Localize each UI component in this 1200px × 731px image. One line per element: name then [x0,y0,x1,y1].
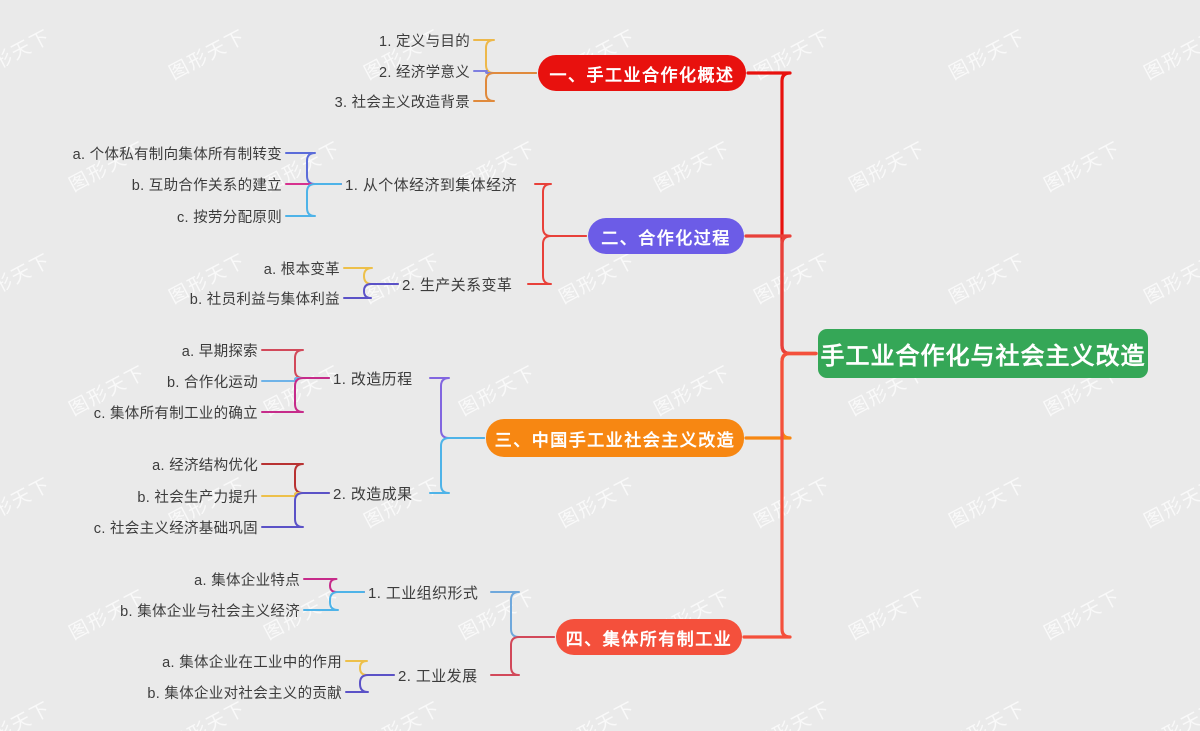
leaf-node-b2s1-2[interactable]: c. 按劳分配原则 [159,205,282,227]
leaf-node-b2s1-0[interactable]: a. 个体私有制向集体所有制转变 [50,142,282,164]
leaf-connector-b2s2-1 [344,284,398,298]
leaf-connector-b3s2-1 [262,493,329,496]
leaf-connector-b2s1-2 [286,184,341,216]
leaf-node-b4s1-0[interactable]: a. 集体企业特点 [183,568,300,590]
leaf-connector-b2s2-0 [344,268,398,284]
leaf-connector-b2s1-0 [286,153,341,184]
sub-node-b4s1[interactable]: 1. 工业组织形式 [368,580,487,604]
sub-connector-b3s1 [430,378,484,438]
trunk-connector-b4 [744,354,816,638]
leaf-node-b4s1-1[interactable]: b. 集体企业与社会主义经济 [94,599,300,621]
sub-node-b2s2[interactable]: 2. 生产关系变革 [402,272,524,296]
watermark-text: 图形天下 [554,246,641,309]
watermark-text: 图形天下 [454,358,541,421]
leaf-node-b1-1[interactable]: 2. 经济学意义 [362,60,470,82]
mindmap-canvas: 图形天下图形天下图形天下图形天下图形天下图形天下图形天下图形天下图形天下图形天下… [0,0,1200,731]
watermark-text: 图形天下 [1139,694,1200,731]
watermark-text: 图形天下 [0,694,55,731]
leaf-connector-b3s1-2 [262,378,329,412]
leaf-node-b2s2-0[interactable]: a. 根本变革 [255,257,340,279]
leaf-connector-b4s1-0 [304,579,364,592]
leaf-connector-b3s1-0 [262,350,329,378]
sub-node-b2s1[interactable]: 1. 从个体经济到集体经济 [345,172,531,196]
watermark-text: 图形天下 [0,470,55,533]
sub-node-b3s2[interactable]: 2. 改造成果 [333,481,426,505]
leaf-node-b4s2-0[interactable]: a. 集体企业在工业中的作用 [135,650,342,672]
watermark-text: 图形天下 [944,22,1031,85]
leaf-connector-b1-2 [474,73,536,101]
sub-connector-b4s1 [491,592,554,637]
leaf-node-b4s2-1[interactable]: b. 集体企业对社会主义的贡献 [117,681,342,703]
leaf-node-b3s1-2[interactable]: c. 集体所有制工业的确立 [73,401,258,423]
sub-connector-b4s2 [491,637,554,675]
watermark-text: 图形天下 [554,694,641,731]
watermark-text: 图形天下 [1139,246,1200,309]
branch-node-b3[interactable]: 三、中国手工业社会主义改造 [486,419,744,457]
leaf-connector-b3s1-1 [262,378,329,381]
leaf-connector-b4s1-1 [304,592,364,610]
sub-node-b4s2[interactable]: 2. 工业发展 [398,663,487,687]
leaf-node-b3s1-1[interactable]: b. 合作化运动 [161,370,258,392]
watermark-text: 图形天下 [164,22,251,85]
leaf-connector-b4s2-1 [346,675,394,692]
leaf-connector-b3s2-2 [262,493,329,527]
watermark-text: 图形天下 [359,694,446,731]
watermark-text: 图形天下 [749,470,836,533]
root-node[interactable]: 手工业合作化与社会主义改造 [818,329,1148,378]
trunk-connector-b1 [748,73,816,354]
leaf-node-b3s1-0[interactable]: a. 早期探索 [173,339,258,361]
leaf-connector-b3s2-0 [262,464,329,493]
watermark-text: 图形天下 [554,470,641,533]
leaf-node-b1-0[interactable]: 1. 定义与目的 [370,29,470,51]
branch-node-b4[interactable]: 四、集体所有制工业 [556,619,742,655]
leaf-connector-b1-0 [474,40,536,73]
branch-node-b2[interactable]: 二、合作化过程 [588,218,744,254]
watermark-text: 图形天下 [844,134,931,197]
watermark-text: 图形天下 [749,246,836,309]
watermark-text: 图形天下 [0,22,55,85]
leaf-node-b3s2-1[interactable]: b. 社会生产力提升 [126,485,258,507]
watermark-text: 图形天下 [1139,22,1200,85]
watermark-text: 图形天下 [944,470,1031,533]
watermark-text: 图形天下 [649,134,736,197]
leaf-node-b2s2-1[interactable]: b. 社员利益与集体利益 [168,287,340,309]
watermark-text: 图形天下 [749,22,836,85]
watermark-text: 图形天下 [1139,470,1200,533]
branch-node-b1[interactable]: 一、手工业合作化概述 [538,55,746,91]
leaf-node-b2s1-1[interactable]: b. 互助合作关系的建立 [111,173,282,195]
leaf-connector-b1-1 [474,71,536,73]
watermark-text: 图形天下 [944,694,1031,731]
sub-connector-b2s2 [528,236,586,284]
watermark-text: 图形天下 [749,694,836,731]
trunk-connector-b3 [746,354,816,439]
trunk-connector-b2 [746,236,816,354]
watermark-text: 图形天下 [1039,582,1126,645]
watermark-text: 图形天下 [1039,134,1126,197]
leaf-connector-b4s2-0 [346,661,394,675]
leaf-node-b3s2-2[interactable]: c. 社会主义经济基础巩固 [69,516,258,538]
sub-connector-b3s2 [430,438,484,493]
leaf-node-b3s2-0[interactable]: a. 经济结构优化 [139,453,258,475]
sub-node-b3s1[interactable]: 1. 改造历程 [333,366,426,390]
watermark-text: 图形天下 [649,358,736,421]
sub-connector-b2s1 [535,184,586,236]
leaf-node-b1-2[interactable]: 3. 社会主义改造背景 [325,90,470,112]
watermark-text: 图形天下 [944,246,1031,309]
watermark-text: 图形天下 [844,582,931,645]
watermark-text: 图形天下 [0,246,55,309]
